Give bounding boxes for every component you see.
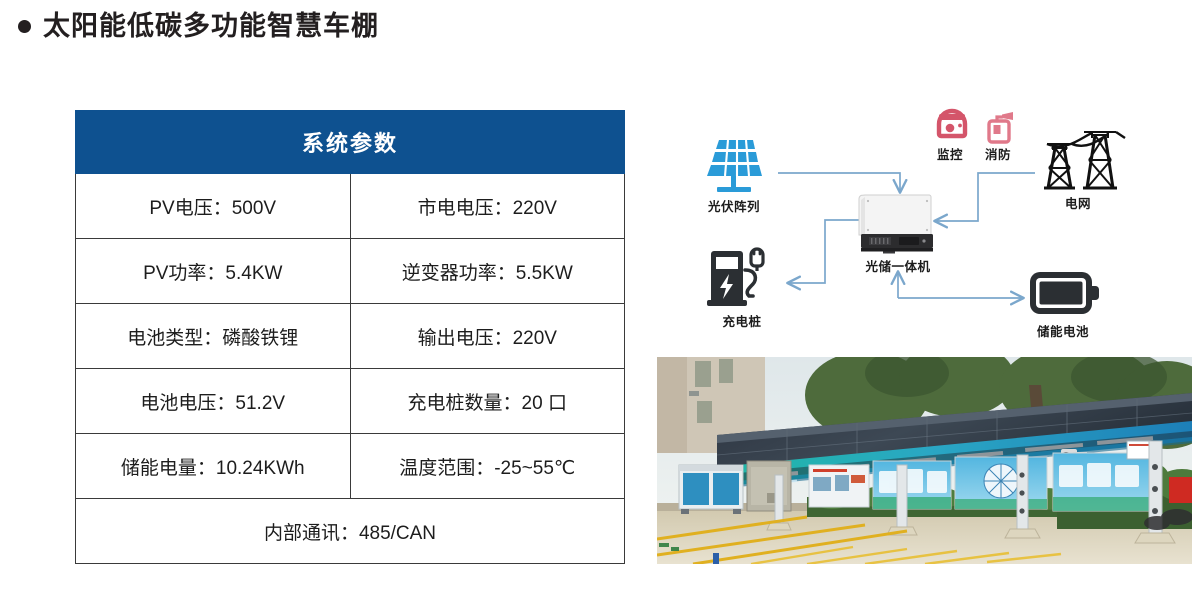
pv-to-inverter-arrow bbox=[778, 173, 900, 192]
table-cell: 内部通讯：485/CAN bbox=[76, 499, 625, 564]
table-header-title: 系统参数 bbox=[76, 111, 625, 174]
charger-label: 充电桩 bbox=[713, 311, 771, 330]
grid-to-inverter-arrow bbox=[935, 173, 1035, 221]
inverter-label: 光储一体机 bbox=[853, 256, 943, 275]
ev-charging-pile-icon bbox=[707, 249, 763, 306]
inverter-to-charger-arrow bbox=[788, 220, 860, 283]
table-cell: 市电电压：220V bbox=[350, 174, 625, 239]
table-cell: 充电桩数量：20 口 bbox=[350, 369, 625, 434]
table-cell: PV功率：5.4KW bbox=[76, 239, 351, 304]
hybrid-inverter-icon bbox=[859, 195, 933, 254]
system-parameters-table: 系统参数 PV电压：500V 市电电压：220V PV功率：5.4KW 逆变器功… bbox=[75, 110, 625, 564]
table-row: 电池电压：51.2V 充电桩数量：20 口 bbox=[76, 369, 625, 434]
table-header-row: 系统参数 bbox=[76, 111, 625, 174]
system-flow-diagram: 光伏阵列 监控 消防 电网 光储一体机 充电桩 储能电池 bbox=[645, 100, 1190, 350]
table-cell: 逆变器功率：5.5KW bbox=[350, 239, 625, 304]
table-row: PV电压：500V 市电电压：220V bbox=[76, 174, 625, 239]
table-row: PV功率：5.4KW 逆变器功率：5.5KW bbox=[76, 239, 625, 304]
table-cell: 电池类型：磷酸铁锂 bbox=[76, 304, 351, 369]
table-cell: PV电压：500V bbox=[76, 174, 351, 239]
table-cell: 储能电量：10.24KWh bbox=[76, 434, 351, 499]
bullet-icon bbox=[18, 20, 31, 33]
page-title-text: 太阳能低碳多功能智慧车棚 bbox=[43, 13, 379, 40]
security-camera-icon bbox=[939, 111, 965, 136]
monitor-label: 监控 bbox=[930, 144, 970, 163]
table-cell: 电池电压：51.2V bbox=[76, 369, 351, 434]
table-row: 储能电量：10.24KWh 温度范围：-25~55℃ bbox=[76, 434, 625, 499]
table-cell: 温度范围：-25~55℃ bbox=[350, 434, 625, 499]
fire-label: 消防 bbox=[978, 144, 1018, 163]
page-title: 太阳能低碳多功能智慧车棚 bbox=[18, 13, 379, 40]
solar-carport-photo bbox=[657, 357, 1192, 564]
pv-array-label: 光伏阵列 bbox=[697, 196, 771, 215]
solar-panel-icon bbox=[707, 140, 762, 192]
battery-label: 储能电池 bbox=[1032, 321, 1094, 340]
table-row: 电池类型：磷酸铁锂 输出电压：220V bbox=[76, 304, 625, 369]
fire-extinguisher-icon bbox=[989, 112, 1013, 142]
table-footer-row: 内部通讯：485/CAN bbox=[76, 499, 625, 564]
table-cell: 输出电压：220V bbox=[350, 304, 625, 369]
transmission-tower-icon bbox=[1044, 132, 1125, 188]
grid-label: 电网 bbox=[1052, 193, 1104, 212]
storage-battery-icon bbox=[1030, 272, 1099, 314]
